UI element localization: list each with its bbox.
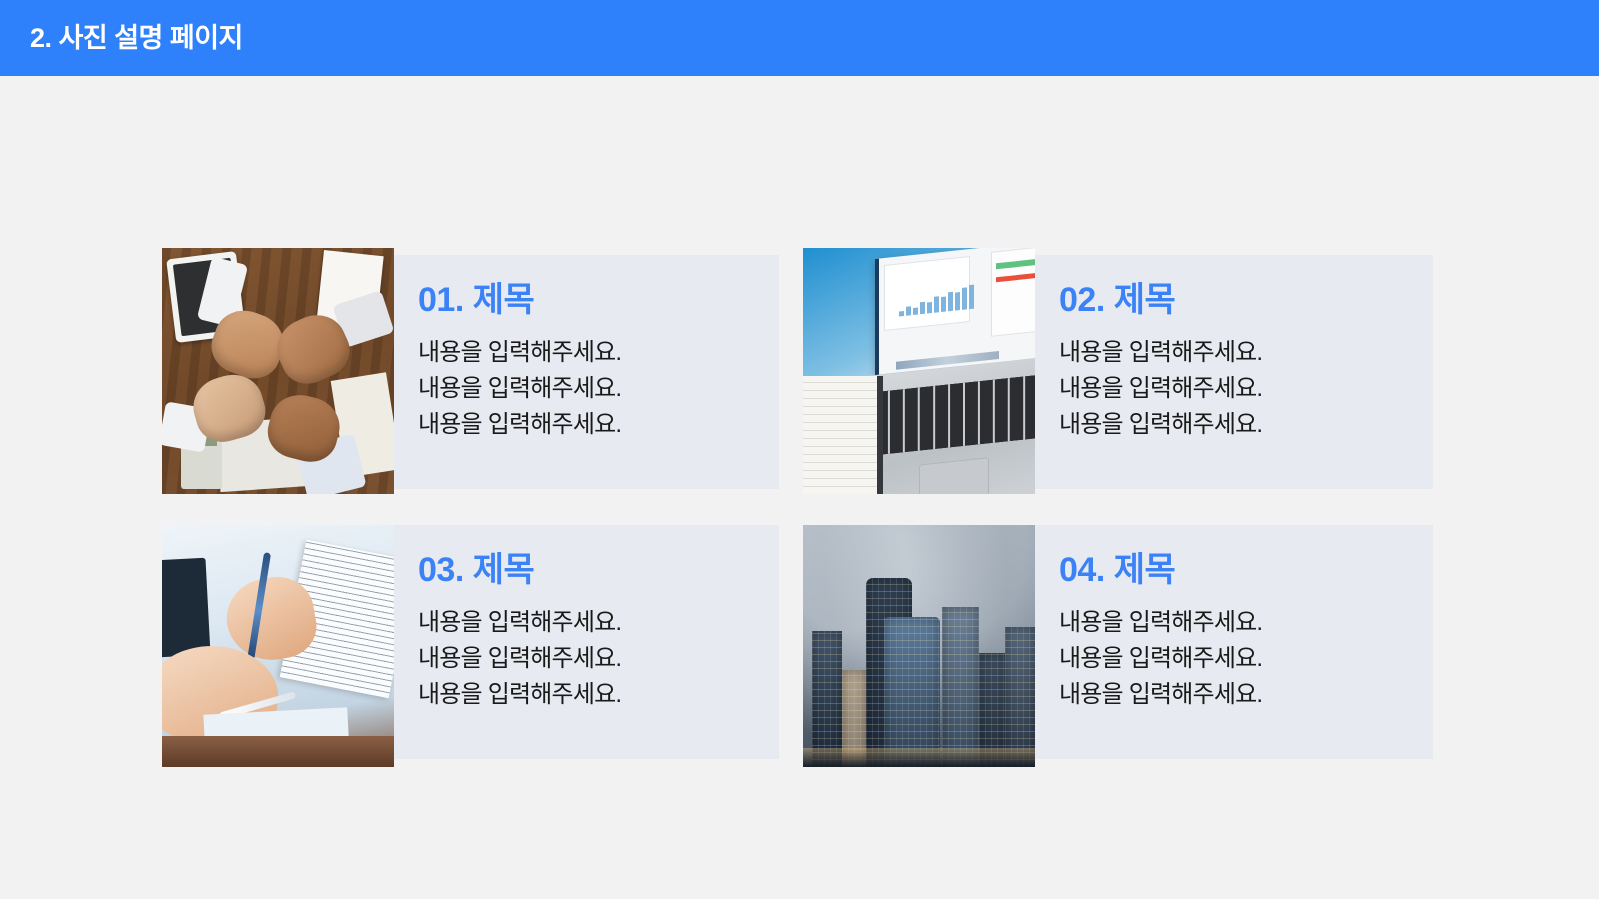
card-text-01: 01. 제목 내용을 입력해주세요. 내용을 입력해주세요. 내용을 입력해주세… — [394, 255, 779, 489]
monitor-object — [162, 558, 211, 657]
laptop-dashboard-photo — [803, 248, 1035, 494]
card-text-03: 03. 제목 내용을 입력해주세요. 내용을 입력해주세요. 내용을 입력해주세… — [394, 525, 779, 759]
slide-body: 01. 제목 내용을 입력해주세요. 내용을 입력해주세요. 내용을 입력해주세… — [0, 76, 1599, 899]
card-image-01 — [162, 248, 394, 494]
content-card-03[interactable]: 03. 제목 내용을 입력해주세요. 내용을 입력해주세요. 내용을 입력해주세… — [162, 525, 779, 759]
card-lines-04: 내용을 입력해주세요. 내용을 입력해주세요. 내용을 입력해주세요. — [1059, 605, 1433, 713]
notebook-object — [803, 376, 883, 494]
desk-edge — [162, 736, 394, 767]
card-line: 내용을 입력해주세요. — [418, 677, 779, 713]
card-lines-02: 내용을 입력해주세요. 내용을 입력해주세요. 내용을 입력해주세요. — [1059, 335, 1433, 443]
card-image-04 — [803, 525, 1035, 767]
card-heading-02: 02. 제목 — [1059, 283, 1433, 319]
card-heading-04: 04. 제목 — [1059, 553, 1433, 589]
laptop-screen — [875, 248, 1035, 375]
page-title: 2. 사진 설명 페이지 — [30, 25, 243, 52]
dashboard-panel — [991, 248, 1036, 337]
trackpad — [919, 458, 989, 494]
card-lines-03: 내용을 입력해주세요. 내용을 입력해주세요. 내용을 입력해주세요. — [418, 605, 779, 713]
laptop-base — [863, 356, 1035, 494]
card-image-02 — [803, 248, 1035, 494]
street-level — [803, 748, 1035, 767]
city-skyline-photo — [803, 525, 1035, 767]
card-line: 내용을 입력해주세요. — [418, 641, 779, 677]
card-line: 내용을 입력해주세요. — [418, 605, 779, 641]
card-line: 내용을 입력해주세요. — [1059, 641, 1433, 677]
card-line: 내용을 입력해주세요. — [1059, 677, 1433, 713]
content-card-04[interactable]: 04. 제목 내용을 입력해주세요. 내용을 입력해주세요. 내용을 입력해주세… — [803, 525, 1433, 759]
skyscraper — [1005, 627, 1035, 767]
card-text-02: 02. 제목 내용을 입력해주세요. 내용을 입력해주세요. 내용을 입력해주세… — [1035, 255, 1433, 489]
skyscraper — [884, 617, 940, 767]
content-card-01[interactable]: 01. 제목 내용을 입력해주세요. 내용을 입력해주세요. 내용을 입력해주세… — [162, 255, 779, 489]
card-heading-01: 01. 제목 — [418, 283, 779, 319]
header-banner: 2. 사진 설명 페이지 — [0, 0, 1599, 76]
card-line: 내용을 입력해주세요. — [418, 371, 779, 407]
card-heading-03: 03. 제목 — [418, 553, 779, 589]
hands-documents-photo — [162, 525, 394, 767]
content-card-02[interactable]: 02. 제목 내용을 입력해주세요. 내용을 입력해주세요. 내용을 입력해주세… — [803, 255, 1433, 489]
skyscraper — [942, 607, 979, 767]
card-line: 내용을 입력해주세요. — [1059, 371, 1433, 407]
fist-bump-photo — [162, 248, 394, 494]
card-line: 내용을 입력해주세요. — [1059, 407, 1433, 443]
card-image-03 — [162, 525, 394, 767]
card-line: 내용을 입력해주세요. — [418, 407, 779, 443]
keyboard — [875, 373, 1035, 455]
card-line: 내용을 입력해주세요. — [418, 335, 779, 371]
card-line: 내용을 입력해주세요. — [1059, 335, 1433, 371]
card-line: 내용을 입력해주세요. — [1059, 605, 1433, 641]
card-lines-01: 내용을 입력해주세요. 내용을 입력해주세요. 내용을 입력해주세요. — [418, 335, 779, 443]
card-text-04: 04. 제목 내용을 입력해주세요. 내용을 입력해주세요. 내용을 입력해주세… — [1035, 525, 1433, 759]
